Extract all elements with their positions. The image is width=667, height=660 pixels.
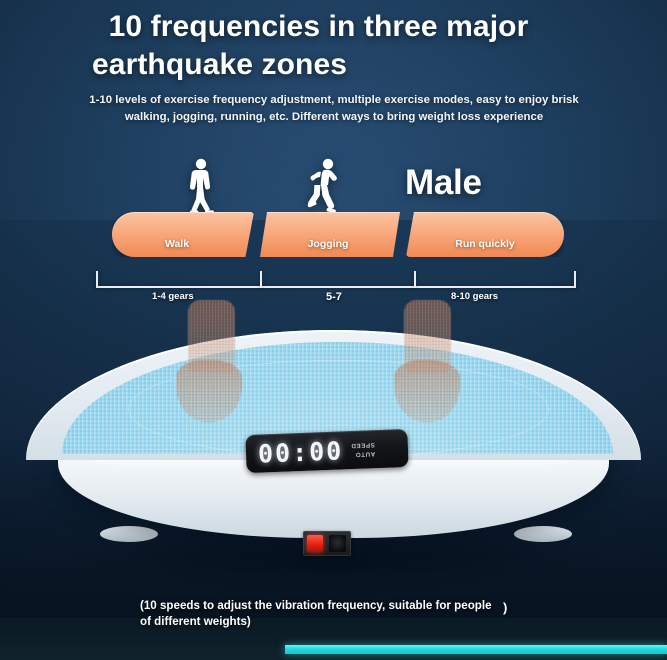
page-title: 10 frequencies in three major earthquake… <box>0 8 667 85</box>
scale-line <box>96 286 576 288</box>
led-label-auto: AUTO <box>351 450 375 458</box>
mode-label-jogging: Jogging <box>258 238 398 250</box>
led-timer-value: 00:00 <box>257 436 343 468</box>
scale-tick-2 <box>414 271 416 288</box>
led-label-speed: SPEED <box>351 441 375 449</box>
scale-tick-end <box>574 271 576 288</box>
gear-range-jogging: 5-7 <box>326 291 342 303</box>
promo-image: 10 frequencies in three major earthquake… <box>0 0 667 660</box>
led-side-labels: AUTO SPEED <box>351 441 376 458</box>
mode-segment-jogging[interactable]: Jogging <box>260 212 400 257</box>
machine-foot-right <box>514 526 572 542</box>
mode-segment-run-quickly[interactable]: Run quickly <box>406 212 564 257</box>
mode-label-run-quickly: Run quickly <box>406 238 564 250</box>
scale-tick-1 <box>260 271 262 288</box>
mode-label-walk: Walk <box>106 238 248 250</box>
subtitle: 1-10 levels of exercise frequency adjust… <box>88 92 580 127</box>
gear-range-run: 8-10 gears <box>451 291 498 302</box>
machine-foot-left <box>100 526 158 542</box>
mode-selector[interactable]: Walk Jogging Run quickly <box>112 212 564 257</box>
power-panel[interactable] <box>303 531 351 556</box>
title-line-1: 10 frequencies in three major <box>109 10 529 43</box>
mode-segment-walk[interactable]: Walk <box>112 212 254 257</box>
bottom-caption: (10 speeds to adjust the vibration frequ… <box>140 598 495 631</box>
progress-bar[interactable] <box>285 645 667 654</box>
scale-tick-start <box>96 271 98 288</box>
title-line-2: earthquake zones <box>40 46 597 84</box>
gear-range-walk: 1-4 gears <box>152 291 194 302</box>
gear-range-labels: 1-4 gears 5-7 8-10 gears <box>96 291 576 307</box>
power-rocker-switch[interactable] <box>307 535 323 552</box>
led-display-panel: 00:00 AUTO SPEED <box>245 429 408 473</box>
gear-scale-axis <box>96 270 576 288</box>
power-socket-icon <box>329 535 346 552</box>
gender-label: Male <box>405 163 482 203</box>
caption-trailing-paren: ) <box>503 600 507 615</box>
